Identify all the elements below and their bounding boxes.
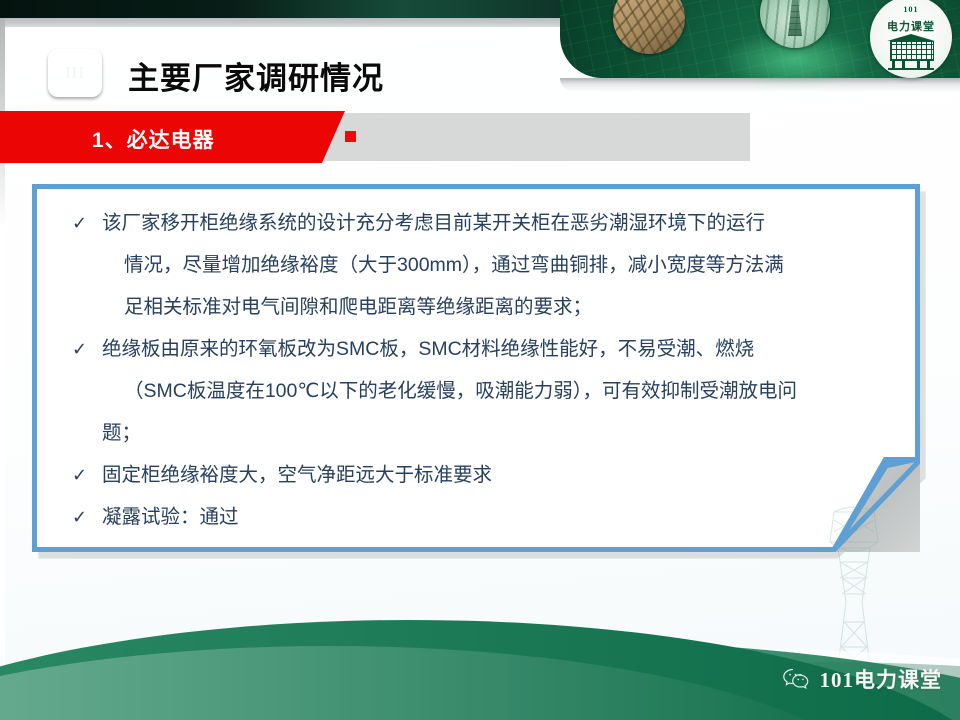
badge-label: III	[65, 63, 85, 83]
bullet-line-text: 情况，尽量增加绝缘裕度（大于300mm），通过弯曲铜排，减小宽度等方法满	[102, 244, 892, 286]
bullet-line: 凝露试验：通过	[102, 496, 892, 538]
bullet-line-text: 凝露试验：通过	[102, 496, 892, 538]
bullet-line: 绝缘板由原来的环氧板改为SMC板，SMC材料绝缘性能好，不易受潮、燃烧 （SMC…	[102, 328, 892, 454]
section-number-badge: III	[48, 49, 102, 97]
bullet-line-text: 绝缘板由原来的环氧板改为SMC板，SMC材料绝缘性能好，不易受潮、燃烧	[102, 328, 892, 370]
content-text-area: ✓ 该厂家移开柜绝缘系统的设计充分考虑目前某开关柜在恶劣潮湿环境下的运行 情况，…	[72, 202, 892, 538]
wave-sheen	[0, 646, 880, 720]
check-icon: ✓	[72, 496, 87, 538]
bullet-line-text: （SMC板温度在100℃以下的老化缓慢，吸潮能力弱），可有效抑制受潮放电问	[102, 370, 892, 412]
check-icon: ✓	[72, 454, 87, 496]
bullet-line-text: 题；	[102, 412, 892, 454]
list-item: ✓ 该厂家移开柜绝缘系统的设计充分考虑目前某开关柜在恶劣潮湿环境下的运行 情况，…	[72, 202, 892, 328]
list-item: ✓ 凝露试验：通过	[72, 496, 892, 538]
bullet-line: 固定柜绝缘裕度大，空气净距远大于标准要求	[102, 454, 892, 496]
wechat-icon	[782, 667, 812, 691]
content-panel: ✓ 该厂家移开柜绝缘系统的设计充分考虑目前某开关柜在恶劣潮湿环境下的运行 情况，…	[32, 184, 920, 552]
title-bar: III 主要厂家调研情况	[0, 27, 960, 99]
page-title: 主要厂家调研情况	[128, 53, 384, 98]
list-item: ✓ 绝缘板由原来的环氧板改为SMC板，SMC材料绝缘性能好，不易受潮、燃烧 （S…	[72, 328, 892, 454]
watermark-text: 101电力课堂	[820, 664, 943, 694]
watermark: 101电力课堂	[782, 664, 943, 694]
section-square-marker-icon	[345, 131, 356, 142]
section-heading: 1、必达电器	[92, 124, 215, 154]
check-icon: ✓	[72, 328, 87, 370]
slide-canvas: 101 电力课堂 III 主要厂家调研情况 1、必达电器 ✓	[0, 0, 960, 720]
bullet-line-text: 固定柜绝缘裕度大，空气净距远大于标准要求	[102, 454, 892, 496]
check-icon: ✓	[72, 202, 87, 244]
bullet-line-text: 该厂家移开柜绝缘系统的设计充分考虑目前某开关柜在恶劣潮湿环境下的运行	[102, 202, 892, 244]
section-gray-bar	[322, 113, 750, 161]
seal-top-text: 101	[870, 5, 952, 14]
bullet-line: 该厂家移开柜绝缘系统的设计充分考虑目前某开关柜在恶劣潮湿环境下的运行 情况，尽量…	[102, 202, 892, 328]
list-item: ✓ 固定柜绝缘裕度大，空气净距远大于标准要求	[72, 454, 892, 496]
bullet-line-text: 足相关标准对电气间隙和爬电距离等绝缘距离的要求；	[102, 286, 892, 328]
